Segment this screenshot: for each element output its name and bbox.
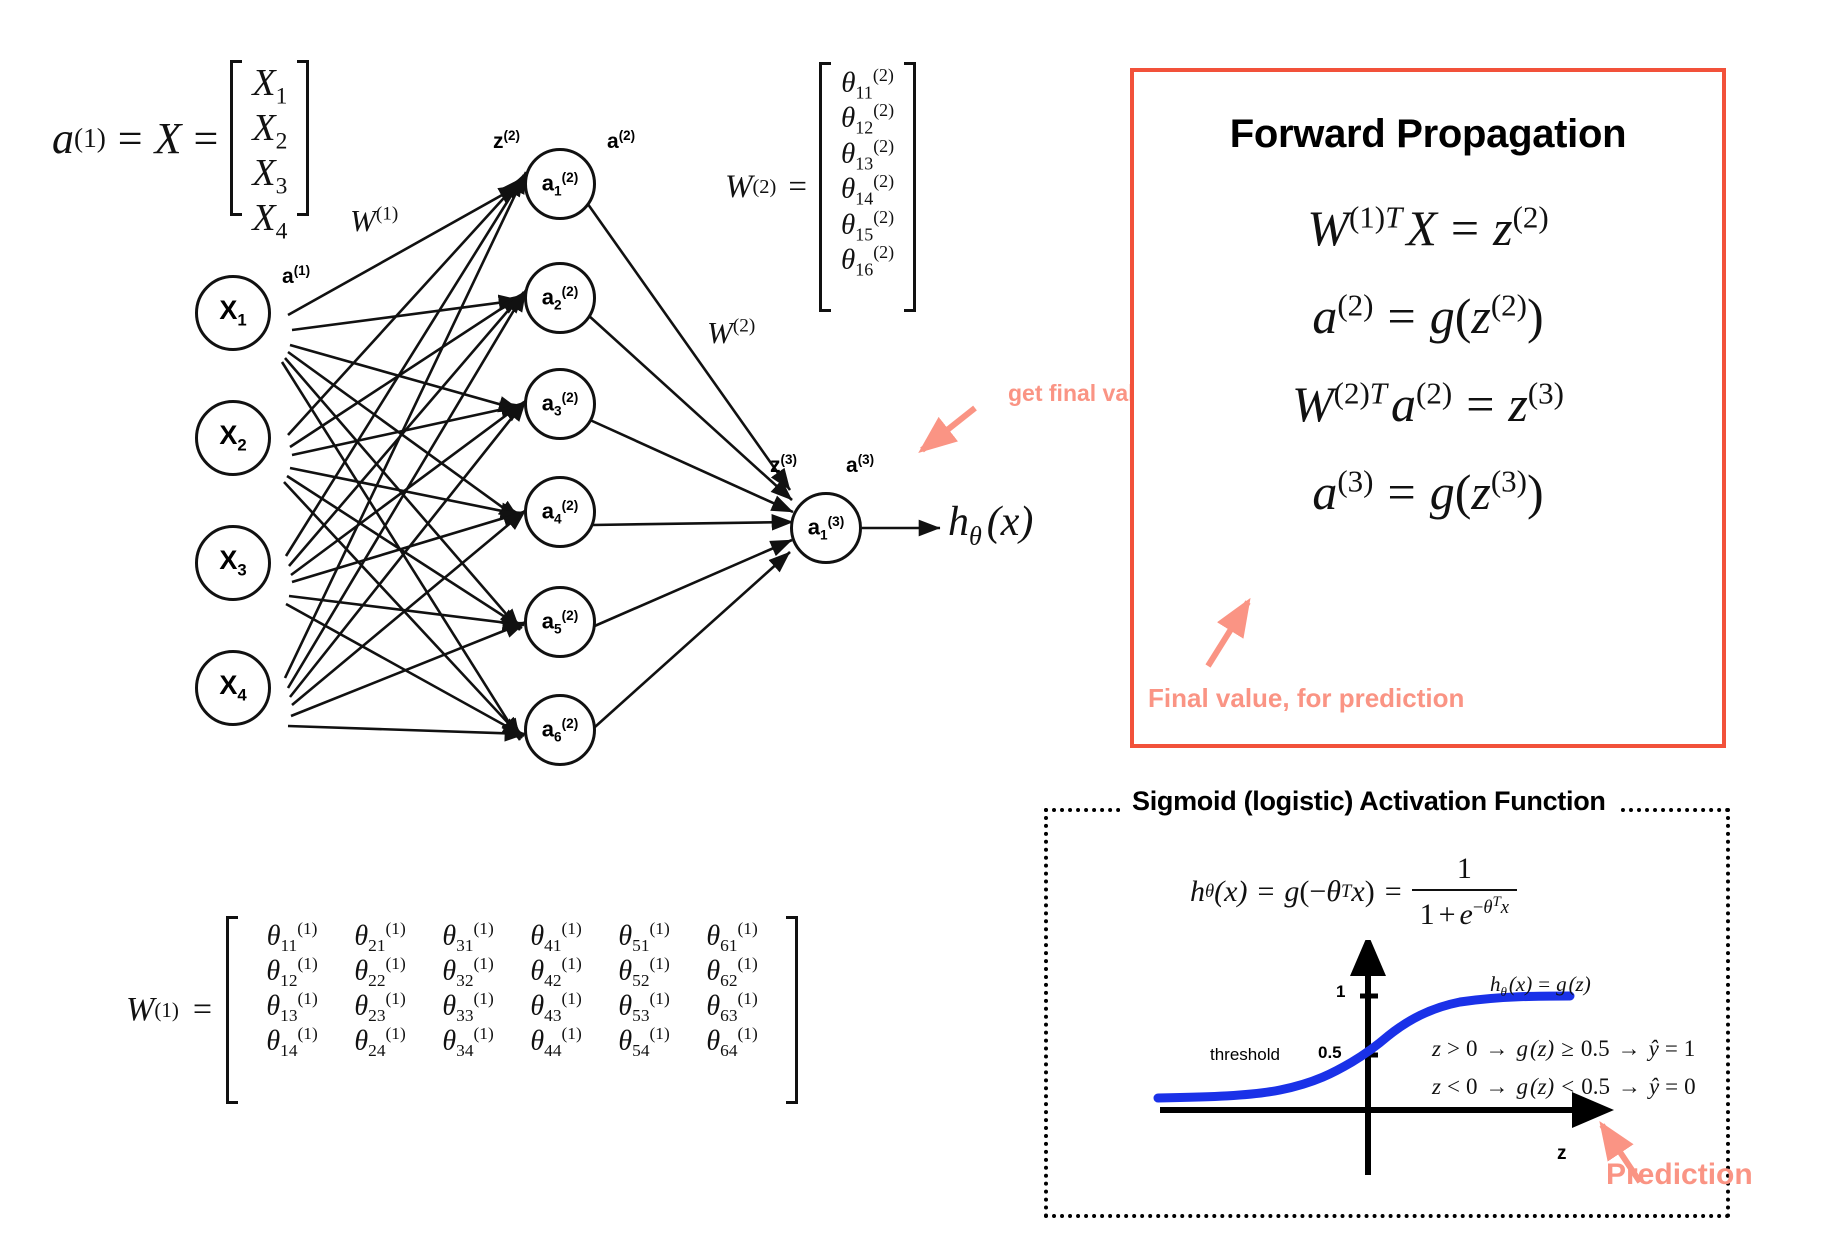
hidden-node-a3-sub: 3 [554, 403, 562, 418]
input-node-x3-base: X [219, 545, 237, 575]
hidden-node-a1-sup: (2) [562, 170, 579, 185]
w1-equals: = [193, 991, 212, 1029]
fp-equation-2: a(2)=g(z(2)) [1134, 287, 1722, 345]
w2-t3: θ [841, 138, 855, 170]
w2-equals: = [788, 169, 807, 206]
output-node-a1[interactable]: a1(3) [790, 492, 862, 564]
sigmoid-numerator: 1 [1412, 852, 1517, 886]
w1-body: θ11(1) θ21(1) θ31(1) θ41(1) θ51(1) θ61(1… [240, 916, 784, 1104]
curve-label: hθ(x)=g(z) [1490, 972, 1591, 1000]
w1-name: W [126, 991, 154, 1029]
hidden-node-a1[interactable]: a1(2) [524, 148, 596, 220]
input-node-x2-sub: 2 [237, 436, 246, 455]
sigmoid-plot [1140, 940, 1760, 1190]
w2-name-sup: (2) [753, 176, 777, 199]
w2-t6: θ [841, 244, 855, 276]
hidden-node-a2-base: a [542, 284, 554, 309]
hidden-node-a6[interactable]: a6(2) [524, 694, 596, 766]
w1-name-sup: (1) [154, 998, 179, 1023]
x-axis-label: z [1557, 1143, 1567, 1165]
w2-t4: θ [841, 173, 855, 205]
threshold-label: threshold [1210, 1045, 1280, 1065]
output-node-sup: (3) [828, 514, 845, 529]
label-weight1: W(1) [350, 203, 398, 239]
hidden-node-a5-base: a [542, 608, 554, 633]
sigmoid-tick-1-label: 1 [1336, 982, 1345, 1002]
sigmoid-denominator: 1+e−θTx [1412, 894, 1517, 932]
label-z2: z(2) [493, 128, 520, 154]
sigmoid-rule-1: z>0→g(z)≥0.5→ŷ=1 [1432, 1036, 1695, 1062]
hidden-node-a3[interactable]: a3(2) [524, 368, 596, 440]
final-value-arrow [1180, 588, 1300, 678]
w1-row-3: θ13(1) θ23(1) θ33(1) θ43(1) θ53(1) θ63(1… [248, 990, 776, 1025]
label-weight2: W(2) [707, 315, 755, 351]
input-node-x2[interactable]: X2 [195, 400, 271, 476]
final-value-label: Final value, for prediction [1148, 683, 1464, 714]
sigmoid-rule-2: z<0→g(z)<0.5→ŷ=0 [1432, 1074, 1696, 1100]
input-node-x2-base: X [219, 420, 237, 450]
hidden-node-a1-base: a [542, 170, 554, 195]
hidden-node-a3-sup: (2) [562, 390, 579, 405]
input-node-x4-base: X [219, 670, 237, 700]
hidden-node-a6-base: a [542, 716, 554, 741]
w1-row-2: θ12(1) θ22(1) θ32(1) θ42(1) θ52(1) θ62(1… [248, 955, 776, 990]
hidden-node-a5-sup: (2) [562, 608, 579, 623]
sigmoid-title: Sigmoid (logistic) Activation Function [1120, 786, 1618, 817]
hypothesis-output: hθ(x) [948, 498, 1033, 551]
input-node-x1[interactable]: X1 [195, 275, 271, 351]
w1-row-1: θ11(1) θ21(1) θ31(1) θ41(1) θ51(1) θ61(1… [248, 920, 776, 955]
hidden-node-a5-sub: 5 [554, 621, 562, 636]
hidden-node-a6-sup: (2) [562, 716, 579, 731]
hidden-node-a2-sub: 2 [554, 297, 562, 312]
forward-propagation-title: Forward Propagation [1134, 112, 1722, 157]
input-node-x3[interactable]: X3 [195, 525, 271, 601]
hidden-node-a6-sub: 6 [554, 729, 562, 744]
input-node-x4-sub: 4 [237, 686, 246, 705]
output-node-base: a [808, 514, 820, 539]
hidden-node-a1-sub: 1 [554, 183, 562, 198]
sigmoid-tick-half-label: 0.5 [1318, 1043, 1342, 1063]
hidden-node-a4-sub: 4 [554, 511, 562, 526]
w2-name: W [725, 169, 753, 206]
input-node-x4[interactable]: X4 [195, 650, 271, 726]
get-final-value-arrow [870, 398, 1000, 498]
sigmoid-formula: hθ(x) = g(−θTx) = 1 1+e−θTx [1190, 852, 1517, 932]
w1-row-4: θ14(1) θ24(1) θ34(1) θ44(1) θ54(1) θ64(1… [248, 1025, 776, 1060]
input-node-x1-sub: 1 [237, 311, 246, 330]
hidden-node-a2-sup: (2) [562, 284, 579, 299]
hidden-node-a5[interactable]: a5(2) [524, 586, 596, 658]
diagram-canvas: a(1) = X = X1 X2 X3 X4 [0, 0, 1826, 1250]
fp-equation-1: W(1)TX=z(2) [1134, 199, 1722, 257]
hidden-node-a3-base: a [542, 390, 554, 415]
w2-t5: θ [841, 208, 855, 240]
label-z3: z(3) [770, 452, 797, 478]
w1-matrix: W(1) = θ11(1) θ21(1) θ31(1) θ41(1) θ51(1… [126, 916, 798, 1104]
hidden-node-a2[interactable]: a2(2) [524, 262, 596, 334]
label-a2: a(2) [607, 128, 635, 154]
w2-t2: θ [841, 102, 855, 134]
label-a1-layer: a(1) [282, 263, 310, 289]
prediction-label: Prediction [1606, 1158, 1753, 1192]
hidden-node-a4-base: a [542, 498, 554, 523]
output-node-sub: 1 [820, 527, 828, 542]
fp-equation-4: a(3)=g(z(3)) [1134, 463, 1722, 521]
fp-equation-3: W(2)Ta(2)=z(3) [1134, 375, 1722, 433]
w2-matrix: W(2) = θ11(2) θ12(2) θ13(2) θ14(2) θ15(2… [725, 62, 916, 312]
input-node-x1-base: X [219, 295, 237, 325]
w2-t1: θ [841, 67, 855, 99]
input-node-x3-sub: 3 [237, 561, 246, 580]
hidden-node-a4[interactable]: a4(2) [524, 476, 596, 548]
hidden-node-a4-sup: (2) [562, 498, 579, 513]
